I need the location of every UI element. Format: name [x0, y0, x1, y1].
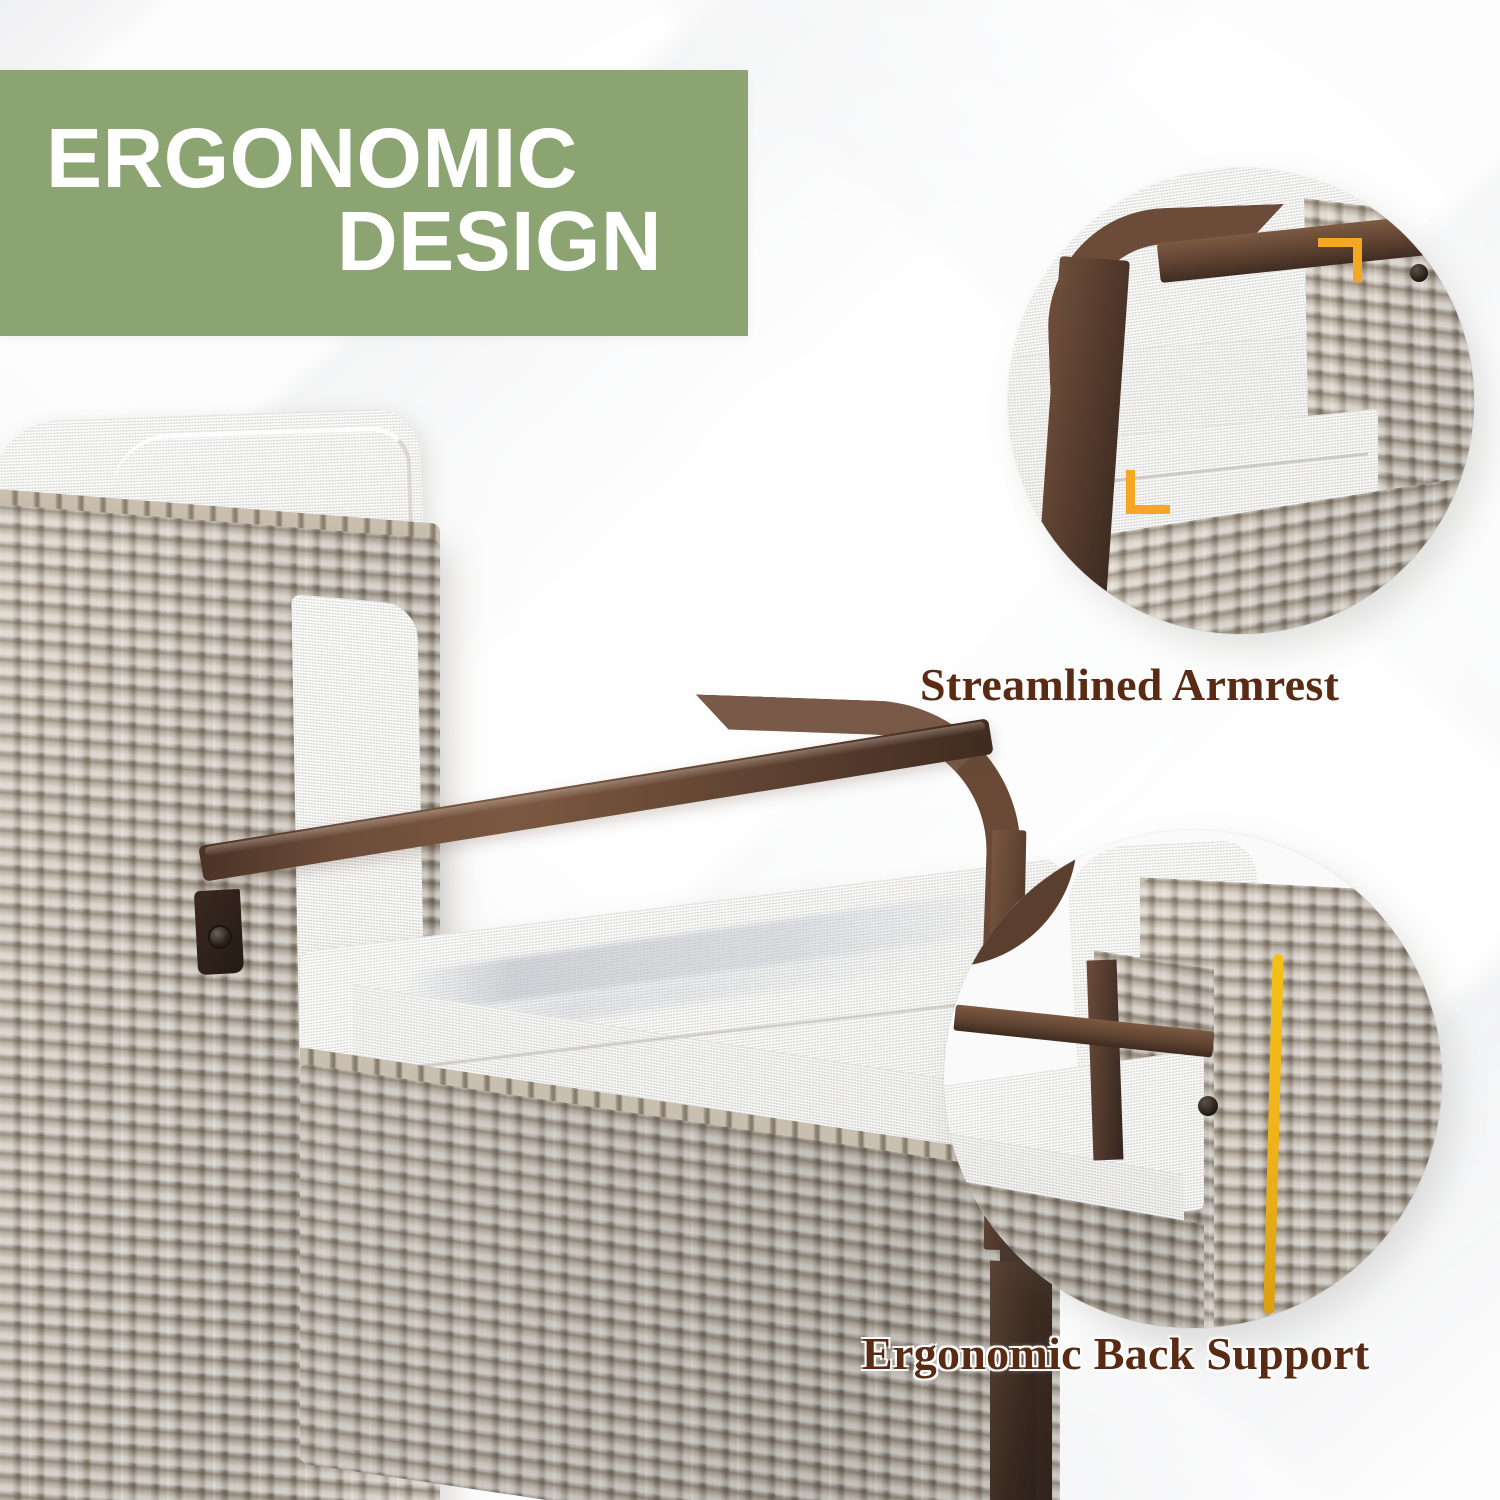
inset-armrest-content [1008, 168, 1474, 634]
bolt-fastener-icon [1410, 264, 1428, 282]
corner-angle-marker-icon [1318, 238, 1362, 282]
corner-angle-marker-icon [1126, 470, 1170, 514]
inset-armrest-detail [1008, 168, 1474, 634]
headline-line-1: ERGONOMIC [46, 117, 662, 200]
bolt-fastener-icon [208, 925, 232, 949]
headline-line-2: DESIGN [46, 200, 662, 283]
product-feature-image: ERGONOMIC DESIGN Streamlined Armrest [0, 0, 1500, 1500]
caption-ergonomic-back-support: Ergonomic Back Support [862, 1327, 1370, 1380]
headline-banner: ERGONOMIC DESIGN [0, 70, 748, 336]
inset-back-support-detail [944, 830, 1442, 1328]
inset-b-armrest-elbow [944, 830, 1084, 980]
bolt-fastener-icon [1198, 1096, 1218, 1116]
caption-streamlined-armrest: Streamlined Armrest [920, 658, 1339, 711]
inset-back-support-content [944, 830, 1442, 1328]
